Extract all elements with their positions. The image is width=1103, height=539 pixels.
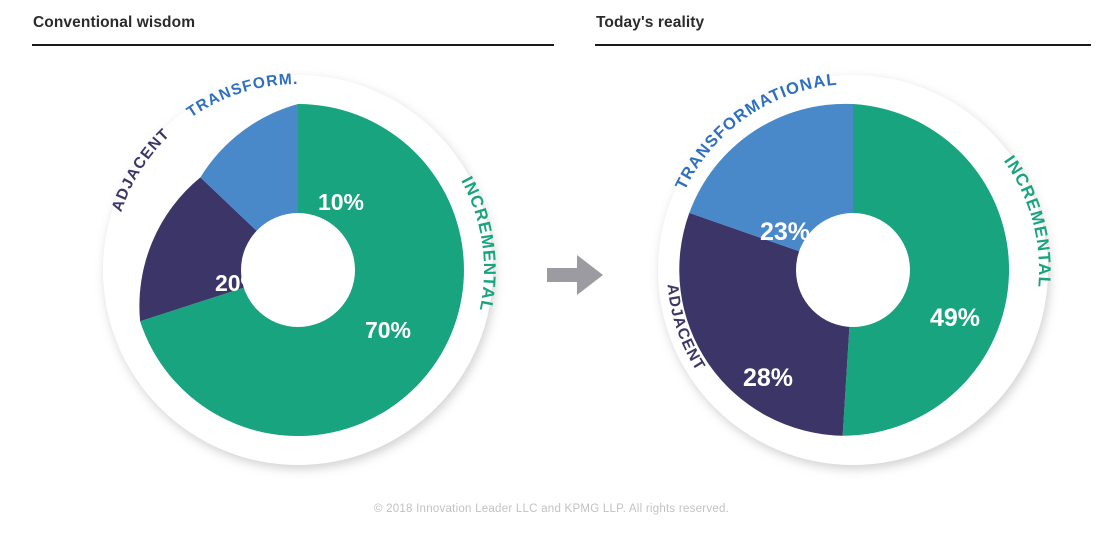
title-divider-left: [32, 44, 554, 46]
donut-hole: [796, 213, 910, 327]
page-title-conventional-wisdom: Conventional wisdom: [33, 14, 195, 32]
donut-chart-todays-reality: 49% 28% 23% INCREMENTAL TRANSFORMATIONAL…: [643, 60, 1063, 480]
slice-value-adjacent: 20%: [215, 270, 261, 296]
slice-value-transformational: 23%: [760, 218, 810, 246]
slice-value-adjacent: 28%: [743, 364, 793, 392]
page-title-todays-reality: Today's reality: [596, 14, 704, 32]
title-divider-right: [595, 44, 1091, 46]
arrow-right-icon: [543, 243, 607, 307]
slice-value-incremental: 70%: [365, 317, 411, 343]
donut-chart-conventional-wisdom: 70% 20% 10% INCREMENTAL ADJACENT TRANSFO…: [88, 60, 508, 480]
slice-value-transformational: 10%: [318, 189, 364, 215]
slice-value-incremental: 49%: [930, 304, 980, 332]
copyright-footer: © 2018 Innovation Leader LLC and KPMG LL…: [0, 503, 1103, 515]
